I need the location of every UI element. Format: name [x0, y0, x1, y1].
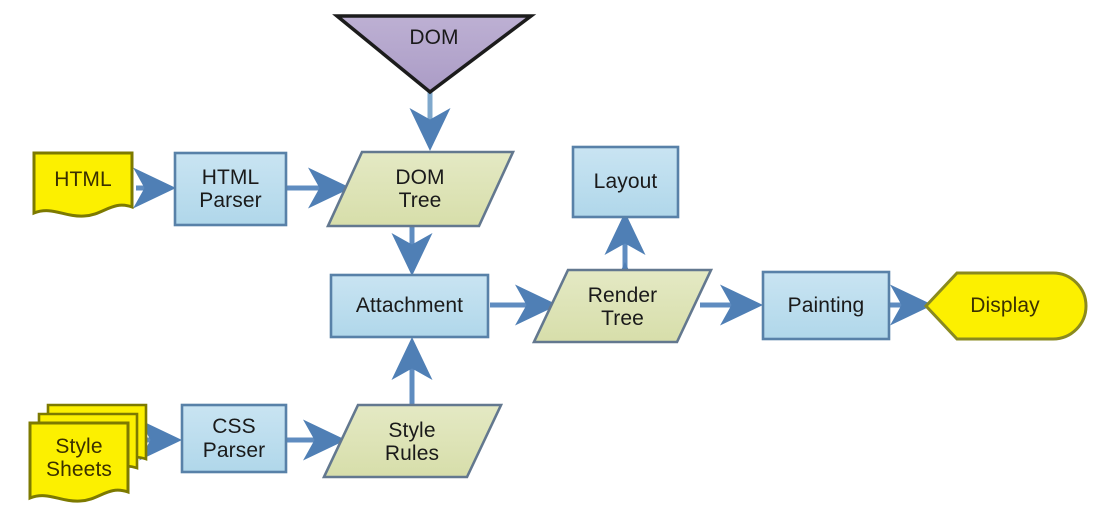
node-html[interactable] — [34, 153, 132, 216]
node-display[interactable] — [926, 273, 1086, 339]
flowchart-shapes-layer — [0, 0, 1098, 528]
flowchart-canvas: DOM HTML HTML Parser DOM Tree Layout Att… — [0, 0, 1098, 528]
node-stylesheets[interactable] — [30, 405, 146, 501]
node-html-parser[interactable] — [175, 153, 286, 225]
node-render-tree[interactable] — [534, 270, 711, 342]
node-attachment[interactable] — [331, 275, 488, 337]
node-layout[interactable] — [573, 147, 678, 217]
node-dom-tree[interactable] — [328, 152, 513, 226]
node-style-rules[interactable] — [324, 405, 501, 477]
node-dom[interactable] — [337, 16, 531, 92]
node-painting[interactable] — [763, 272, 889, 339]
node-css-parser[interactable] — [182, 405, 286, 472]
